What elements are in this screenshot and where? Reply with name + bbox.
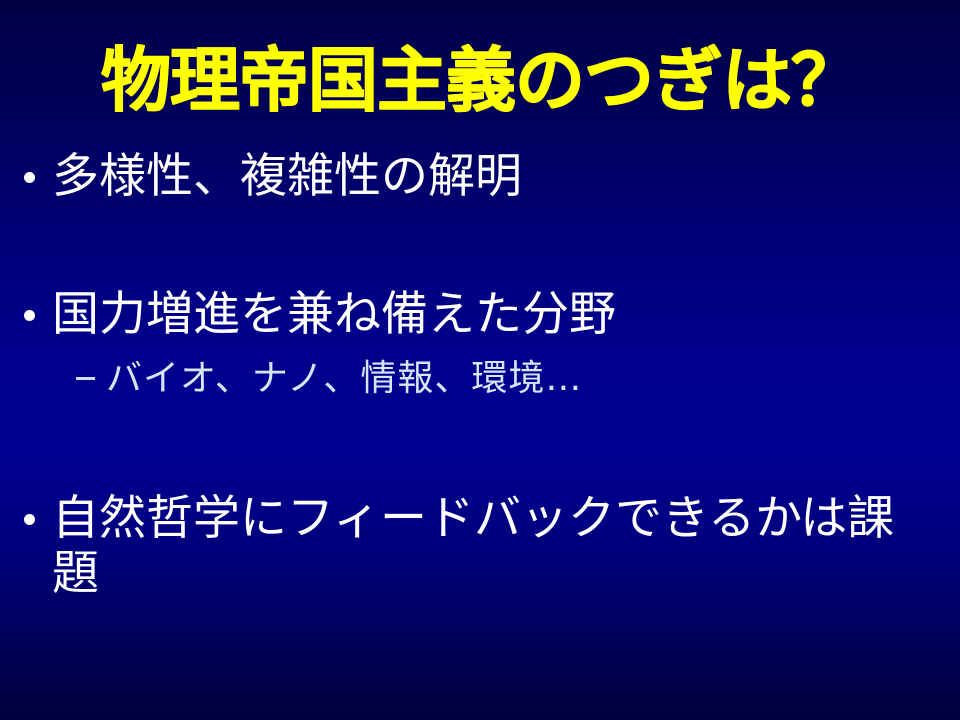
list-item-label: 自然哲学にフィードバックできるかは課題 xyxy=(52,492,897,601)
sub-list-item-label: バイオ、ナノ、情報、環境… xyxy=(88,358,582,399)
dash-icon xyxy=(62,358,88,398)
slide-body-list: 多様性、複雑性の解明 国力増進を兼ね備えた分野 バイオ、ナノ、情報、環境… 自然… xyxy=(0,140,960,700)
list-item: 多様性、複雑性の解明 xyxy=(18,150,918,205)
list-item: 国力増進を兼ね備えた分野 xyxy=(18,288,918,343)
list-item: 自然哲学にフィードバックできるかは課題 xyxy=(18,492,918,601)
list-item-label: 多様性、複雑性の解明 xyxy=(52,150,522,205)
sub-list-item: バイオ、ナノ、情報、環境… xyxy=(62,358,882,399)
presentation-slide: 物理帝国主義のつぎは？ 多様性、複雑性の解明 国力増進を兼ね備えた分野 バイオ、… xyxy=(0,0,960,720)
slide-title: 物理帝国主義のつぎは？ xyxy=(0,45,960,115)
list-item-label: 国力増進を兼ね備えた分野 xyxy=(52,288,616,343)
